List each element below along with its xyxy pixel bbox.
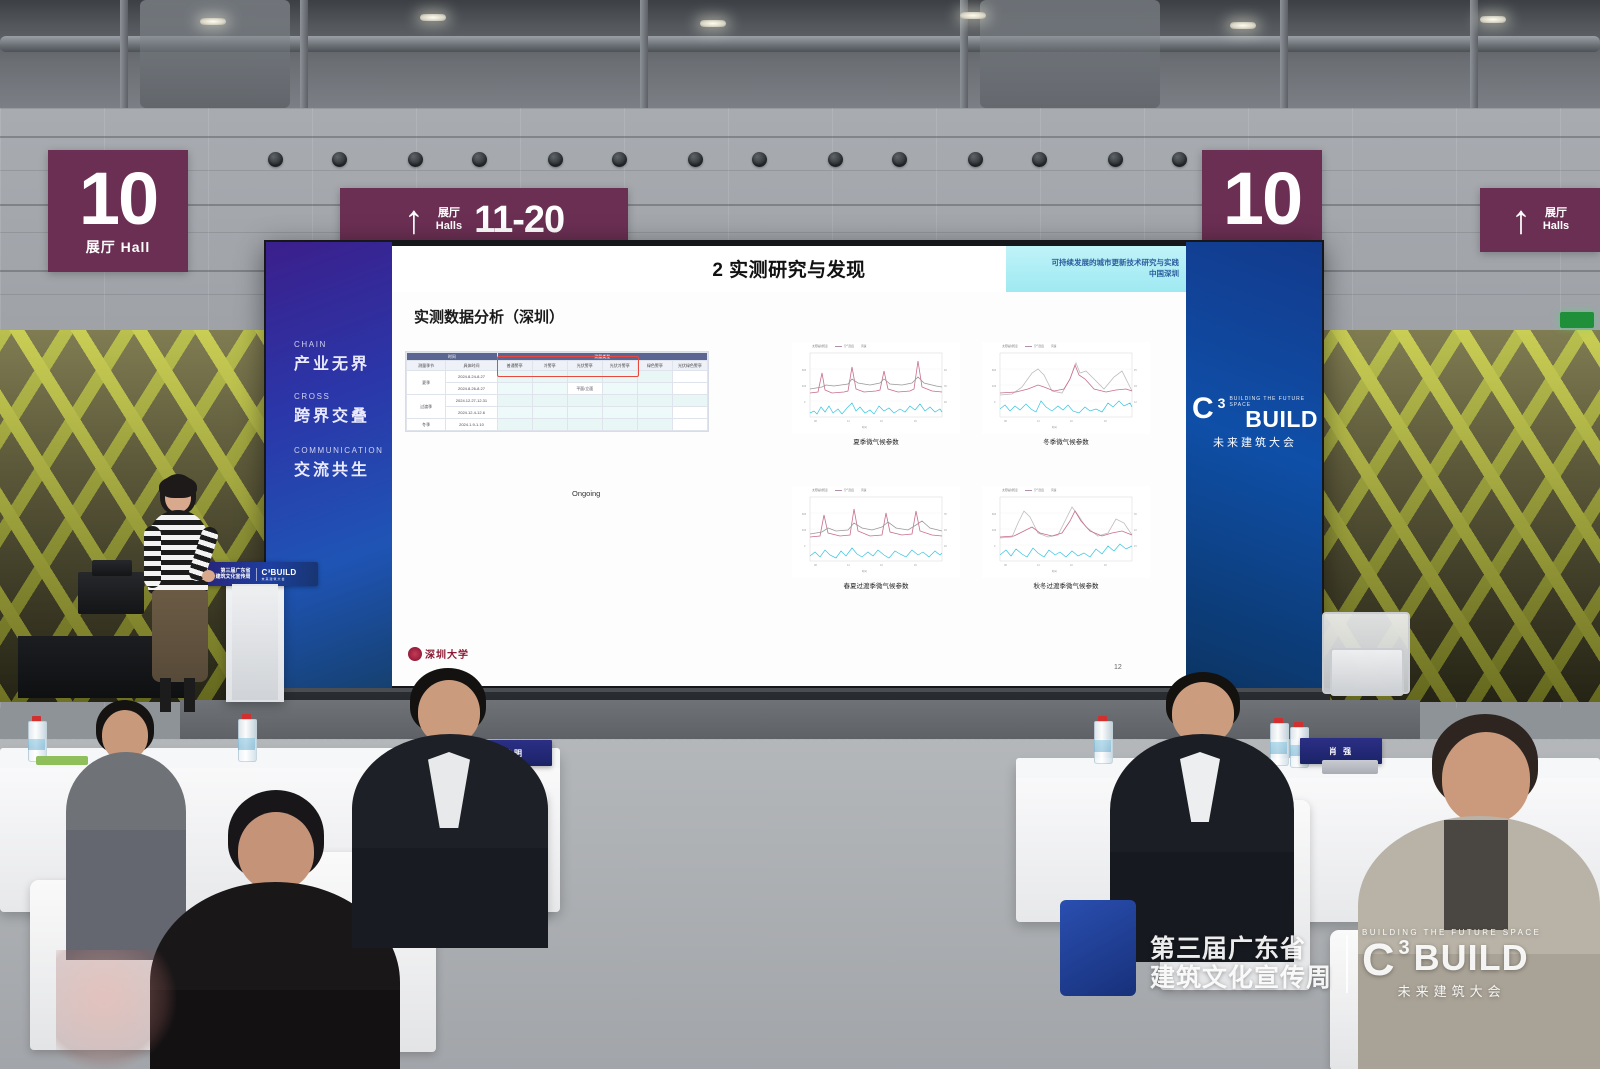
cell-season: 夏季 <box>407 371 446 395</box>
chart-legend: 太阳辐射照度 空气温度 风速 <box>1002 344 1056 348</box>
banner-communication-en: COMMUNICATION <box>294 446 384 455</box>
szu-seal-icon <box>408 647 422 661</box>
svg-text:08: 08 <box>814 420 817 423</box>
university-logo: 深圳大学 <box>408 646 469 661</box>
chart-thumb-autumn-winter: 太阳辐射照度 空气温度 风速 8004000 302215 08121620 时… <box>982 486 1150 578</box>
ongoing-label: Ongoing <box>572 489 600 498</box>
table-row: 夏季 2024.8.24-8.27 <box>407 371 708 383</box>
table-row: 2024.8.26-8.27 平面/立面 <box>407 383 708 395</box>
legend-wind: 风速 <box>1051 488 1056 492</box>
legend-temp: 空气温度 <box>844 345 854 348</box>
col-datetime: 具体时间 <box>446 361 497 371</box>
banner-cross-cn: 跨界交叠 <box>294 402 370 426</box>
svg-text:12: 12 <box>1037 564 1040 567</box>
svg-text:800: 800 <box>992 369 997 372</box>
cell-date: 2024.8.26-8.27 <box>446 383 497 395</box>
banner-cross: CROSS 跨界交叠 <box>294 392 370 426</box>
col-pv-cool-booth: 光伏冷警亭 <box>602 361 637 371</box>
svg-text:400: 400 <box>992 529 997 532</box>
ceiling <box>0 0 1600 112</box>
svg-text:400: 400 <box>992 385 997 388</box>
floral-pattern <box>56 950 176 1069</box>
hall-number: 10 <box>1223 165 1301 233</box>
legend-wind: 风速 <box>861 344 866 348</box>
watermark-logo: BUILDING THE FUTURE SPACE C 3 BUILD 未来建筑… <box>1362 928 1541 1000</box>
banner-cross-en: CROSS <box>294 392 370 401</box>
legend-radiation: 太阳辐射照度 <box>812 344 828 348</box>
podium-logo: C³BUILD <box>262 568 297 577</box>
chart-thumb-spring-summer: 太阳辐射照度 空气温度 风速 8004000 352820 08121620 时… <box>792 486 960 578</box>
chart-caption-winter: 冬季微气候参数 <box>982 436 1150 446</box>
audience-member <box>352 668 548 948</box>
c3-logo-build: BUILD <box>1245 409 1318 431</box>
col-season: 测量季节 <box>407 361 446 371</box>
c3-logo-c: C <box>1192 396 1214 422</box>
cell-season: 过渡季 <box>407 395 446 419</box>
chart-thumb-winter: 太阳辐射照度 空气温度 风速 8004000 251812 08121620 时… <box>982 342 1150 434</box>
watermark-logo-superscript: 3 <box>1399 937 1410 960</box>
svg-text:800: 800 <box>992 513 997 516</box>
svg-text:20: 20 <box>914 564 917 567</box>
university-name: 深圳大学 <box>425 646 469 661</box>
svg-text:400: 400 <box>802 529 807 532</box>
event-watermark: 第三届广东省 建筑文化宣传周 BUILDING THE FUTURE SPACE… <box>1150 928 1541 1000</box>
legend-wind: 风速 <box>861 488 866 492</box>
svg-text:0: 0 <box>804 401 806 404</box>
halls-label: 展厅 Halls <box>1543 207 1569 232</box>
measurement-table: 时间 测量类型 测量季节 具体时间 普通警亭 冷警亭 光伏警亭 光伏冷警亭 绿色… <box>406 352 708 431</box>
chart-caption-spring-summer: 春夏过渡季微气候参数 <box>792 580 960 590</box>
legend-radiation: 太阳辐射照度 <box>812 488 828 492</box>
c3-logo-tagline: BUILDING THE FUTURE SPACE <box>1229 396 1318 408</box>
svg-text:12: 12 <box>1037 420 1040 423</box>
col-pv-booth: 光伏警亭 <box>567 361 602 371</box>
svg-text:16: 16 <box>1070 420 1073 423</box>
water-bottle <box>1094 716 1111 762</box>
table-row: 冬季 2024.1.9-1.10 <box>407 419 708 431</box>
ceiling-light <box>700 20 726 27</box>
presenter <box>142 474 216 714</box>
svg-text:08: 08 <box>1004 420 1007 423</box>
table-header-row: 测量季节 具体时间 普通警亭 冷警亭 光伏警亭 光伏冷警亭 绿色警亭 光伏绿色警… <box>407 361 708 371</box>
svg-text:08: 08 <box>1004 564 1007 567</box>
banner-communication-cn: 交流共生 <box>294 456 384 480</box>
slide-title: 2 实测研究与发现 <box>392 255 1186 282</box>
watermark-logo-build: BUILD <box>1414 937 1529 979</box>
col-green-booth: 绿色警亭 <box>637 361 672 371</box>
watermark-logo-c: C <box>1362 941 1395 979</box>
up-arrow-icon: ↑ <box>404 200 424 240</box>
svg-text:800: 800 <box>802 369 807 372</box>
legend-temp: 空气温度 <box>1034 489 1044 492</box>
banner-communication: COMMUNICATION 交流共生 <box>294 446 384 480</box>
group-header-time: 时间 <box>407 353 498 361</box>
banner-chain-en: CHAIN <box>294 340 370 349</box>
group-header-type: 测量类型 <box>497 353 707 361</box>
svg-text:0: 0 <box>804 545 806 548</box>
cell-date: 2024.8.24-8.27 <box>446 371 497 383</box>
water-bottle <box>238 714 255 760</box>
cell-date: 2024.1.9-1.10 <box>446 419 497 431</box>
table-row: 2024.12.4-12.6 <box>407 407 708 419</box>
bag <box>1060 900 1136 996</box>
svg-text:15: 15 <box>1134 545 1137 548</box>
cell-note: 平面/立面 <box>567 383 602 395</box>
c3-logo-superscript: 3 <box>1218 396 1226 410</box>
svg-text:40: 40 <box>944 369 947 372</box>
halls-range: 11-20 <box>474 199 564 242</box>
svg-text:12: 12 <box>847 420 850 423</box>
chart-legend: 太阳辐射照度 空气温度 风速 <box>1002 488 1056 492</box>
ceiling-light <box>420 14 446 21</box>
podium-sign-text: 第三届广东省 建筑文化宣传周 <box>216 568 251 581</box>
c3-build-logo-banner: C 3 BUILDING THE FUTURE SPACE BUILD 未来建筑… <box>1192 396 1318 450</box>
cell-season: 冬季 <box>407 419 446 431</box>
av-equipment <box>92 560 132 576</box>
halls-label: 展厅 Halls <box>436 207 462 232</box>
svg-text:20: 20 <box>914 420 917 423</box>
chart-xlabel: 时间 <box>862 425 867 429</box>
svg-text:12: 12 <box>847 564 850 567</box>
water-bottle <box>28 716 45 760</box>
banner-chain-cn: 产业无界 <box>294 350 370 374</box>
chart-thumb-summer: 太阳辐射照度 空气温度 风速 8004000 403020 08121620 时… <box>792 342 960 434</box>
svg-text:25: 25 <box>1134 369 1137 372</box>
legend-temp: 空气温度 <box>1034 345 1044 348</box>
cell-date: 2024.12.27-12.31 <box>446 395 497 407</box>
svg-text:0: 0 <box>994 401 996 404</box>
ceiling-light <box>1480 16 1506 23</box>
table-row: 过渡季 2024.12.27-12.31 <box>407 395 708 407</box>
c3-logo-cn: 未来建筑大会 <box>1192 434 1318 450</box>
svg-text:20: 20 <box>1104 420 1107 423</box>
slide-subtitle: 实测数据分析（深圳） <box>414 306 564 327</box>
svg-text:35: 35 <box>944 513 947 516</box>
slide-page-number: 12 <box>1114 664 1122 671</box>
svg-text:30: 30 <box>1134 513 1137 516</box>
ceiling-light <box>200 18 226 25</box>
svg-text:30: 30 <box>944 385 947 388</box>
svg-text:800: 800 <box>802 513 807 516</box>
presentation-slide: 可持续发展的城市更新技术研究与实践 中国深圳 2 实测研究与发现 实测数据分析（… <box>392 246 1186 686</box>
svg-text:28: 28 <box>944 529 947 532</box>
luggage-cart <box>1330 648 1404 696</box>
svg-text:20: 20 <box>1104 564 1107 567</box>
col-cool-booth: 冷警亭 <box>532 361 567 371</box>
exit-sign <box>1560 312 1594 328</box>
banner-chain: CHAIN 产业无界 <box>294 340 370 374</box>
right-side-banner <box>1186 242 1322 690</box>
hall-number: 10 <box>79 165 157 233</box>
svg-text:0: 0 <box>994 545 996 548</box>
up-arrow-icon: ↑ <box>1511 200 1531 240</box>
watermark-title: 第三届广东省 建筑文化宣传周 <box>1150 935 1332 994</box>
svg-text:20: 20 <box>944 545 947 548</box>
hall-sign-10-left: 10 展厅 Hall <box>48 150 188 272</box>
legend-temp: 空气温度 <box>844 489 854 492</box>
chart-legend: 太阳辐射照度 空气温度 风速 <box>812 488 866 492</box>
ceiling-light <box>960 12 986 19</box>
av-equipment <box>78 572 144 614</box>
svg-text:22: 22 <box>1134 529 1137 532</box>
hall-sign-right-arrow: ↑ 展厅 Halls <box>1480 188 1600 252</box>
svg-text:08: 08 <box>814 564 817 567</box>
cell-date: 2024.12.4-12.6 <box>446 407 497 419</box>
col-normal-booth: 普通警亭 <box>497 361 532 371</box>
placard-name: 肖 强 <box>1329 746 1353 757</box>
legend-radiation: 太阳辐射照度 <box>1002 488 1018 492</box>
podium-logo-cn: 未来建筑大会 <box>262 577 297 581</box>
ceiling-light <box>1230 22 1256 29</box>
chart-xlabel: 时间 <box>1052 569 1057 573</box>
legend-wind: 风速 <box>1051 344 1056 348</box>
svg-text:16: 16 <box>880 420 883 423</box>
svg-text:12: 12 <box>1134 401 1137 404</box>
chart-xlabel: 时间 <box>1052 425 1057 429</box>
svg-text:16: 16 <box>880 564 883 567</box>
chart-legend: 太阳辐射照度 空气温度 风速 <box>812 344 866 348</box>
svg-text:20: 20 <box>944 401 947 404</box>
audience-member <box>1110 672 1294 962</box>
conference-photo: 10 展厅 Hall ↑ 展厅 Halls 11-20 10 展厅 Hall ↑… <box>0 0 1600 1069</box>
col-pv-green-booth: 光伏绿色警亭 <box>672 361 707 371</box>
audience-member <box>1358 714 1600 1069</box>
svg-text:18: 18 <box>1134 385 1137 388</box>
legend-radiation: 太阳辐射照度 <box>1002 344 1018 348</box>
chart-caption-summer: 夏季微气候参数 <box>792 436 960 446</box>
svg-text:16: 16 <box>1070 564 1073 567</box>
chart-caption-autumn-winter: 秋冬过渡季微气候参数 <box>982 580 1150 590</box>
hall-label: 展厅 Hall <box>86 237 151 257</box>
chart-xlabel: 时间 <box>862 569 867 573</box>
svg-text:400: 400 <box>802 385 807 388</box>
table-group-header-row: 时间 测量类型 <box>407 353 708 361</box>
